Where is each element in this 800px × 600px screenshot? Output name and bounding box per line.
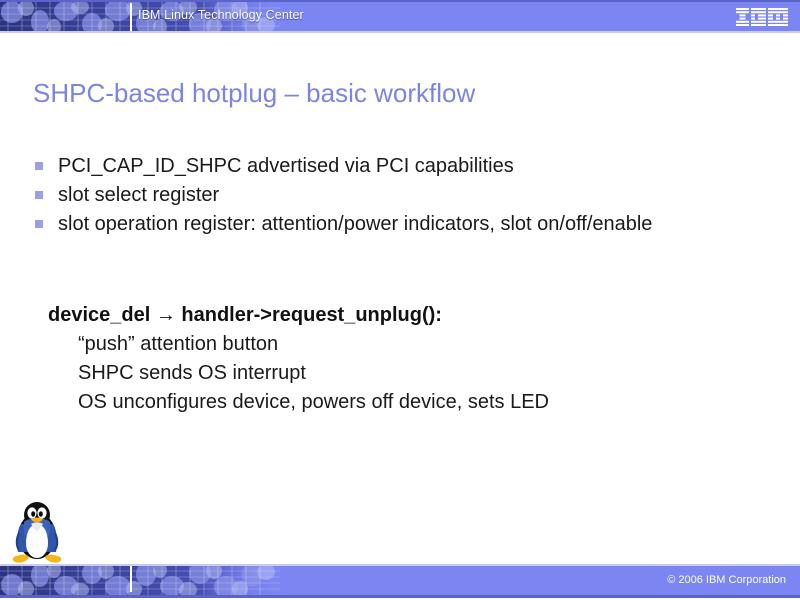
slide-canvas: IBM Linux Technology Center — [0, 0, 800, 600]
list-item: slot select register — [33, 181, 683, 210]
footer-bar: © 2006 IBM Corporation — [0, 566, 800, 595]
header-brand-text: IBM Linux Technology Center — [138, 8, 304, 22]
workflow-step: “push” attention button — [48, 330, 738, 359]
bullet-square-icon — [35, 220, 43, 228]
list-item-label: PCI_CAP_ID_SHPC advertised via PCI capab… — [58, 155, 514, 177]
list-item: slot operation register: attention/power… — [33, 210, 683, 239]
footer-decorative-pattern — [0, 566, 280, 595]
workflow-heading: device_del → handler->request_unplug(): — [48, 300, 738, 330]
list-item: PCI_CAP_ID_SHPC advertised via PCI capab… — [33, 152, 683, 181]
header-bar: IBM Linux Technology Center — [0, 2, 800, 31]
copyright-text: © 2006 IBM Corporation — [667, 574, 786, 586]
tux-penguin-logo — [9, 500, 65, 564]
bullet-square-icon — [35, 191, 43, 199]
page-title: SHPC-based hotplug – basic workflow — [33, 78, 475, 109]
header-divider-tick — [130, 3, 132, 31]
workflow-step: OS unconfigures device, powers off devic… — [48, 388, 738, 417]
workflow-step: SHPC sends OS interrupt — [48, 359, 738, 388]
bullet-square-icon — [35, 162, 43, 170]
workflow-block: device_del → handler->request_unplug(): … — [48, 300, 738, 417]
footer-divider-tick — [130, 566, 132, 592]
footer-bottom-rule — [0, 595, 800, 598]
bullet-list: PCI_CAP_ID_SHPC advertised via PCI capab… — [33, 152, 683, 239]
header-bottom-rule — [0, 31, 800, 33]
list-item-label: slot operation register: attention/power… — [58, 213, 652, 235]
list-item-label: slot select register — [58, 184, 219, 206]
ibm-logo — [736, 8, 788, 27]
